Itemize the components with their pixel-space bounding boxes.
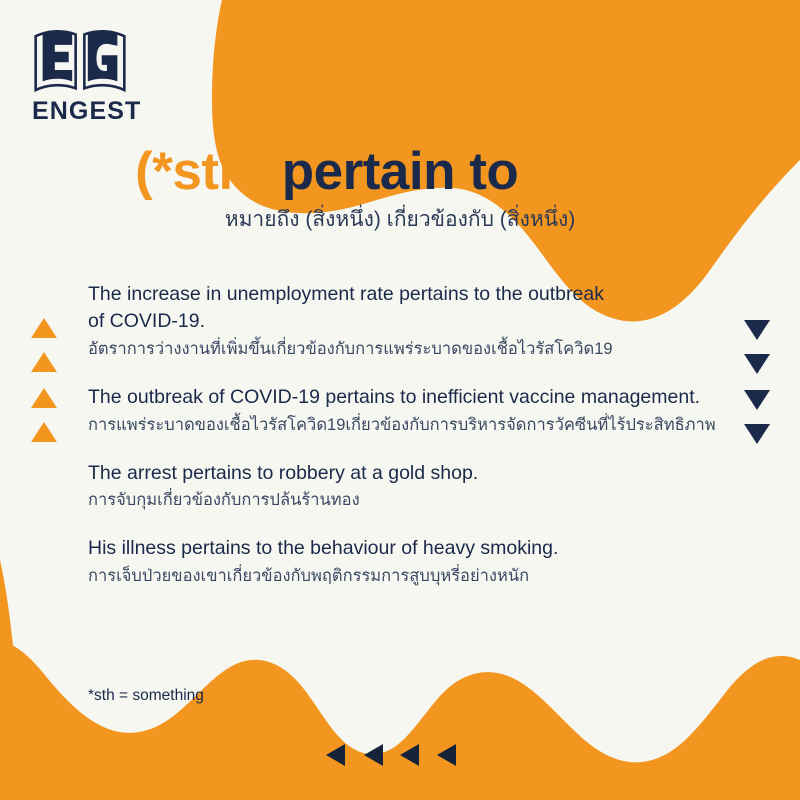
bottom-wave-shape [0, 640, 800, 800]
triangle-up-icon [31, 318, 57, 338]
examples-list: The increase in unemployment rate pertai… [88, 281, 728, 589]
example-english: His illness pertains to the behaviour of… [88, 535, 728, 562]
triangle-right-icon [396, 29, 415, 51]
triangle-left-icon [437, 744, 456, 766]
triangle-down-icon [744, 354, 770, 374]
example-english: The outbreak of COVID-19 pertains to ine… [88, 384, 728, 411]
subtitle-thai: หมายถึง (สิ่งหนึ่ง) เกี่ยวข้องกับ (สิ่งห… [0, 206, 800, 233]
triangle-left-icon [326, 744, 345, 766]
triangle-down-icon [744, 390, 770, 410]
example-item: His illness pertains to the behaviour of… [88, 535, 728, 589]
triangle-right-icon [433, 29, 452, 51]
triangle-right-icon [359, 29, 378, 51]
triangle-up-icon [31, 352, 57, 372]
example-item: The increase in unemployment rate pertai… [88, 281, 728, 362]
example-item: The outbreak of COVID-19 pertains to ine… [88, 384, 728, 438]
example-thai: อัตราการว่างงานที่เพิ่มขึ้นเกี่ยวข้องกับ… [88, 338, 728, 362]
triangle-down-icon [744, 320, 770, 340]
triangle-down-icon [744, 424, 770, 444]
example-thai: การเจ็บป่วยของเขาเกี่ยวข้องกับพฤติกรรมกา… [88, 565, 728, 589]
left-edge-wave-shape [0, 560, 40, 800]
footnote: *sth = something [88, 688, 204, 704]
poster-canvas: ENGEST (*sth) pertain to (*sth) หมายถึง … [0, 0, 800, 800]
logo: ENGEST [32, 24, 142, 124]
triangle-left-icon [400, 744, 419, 766]
open-book-eg-icon [32, 24, 128, 97]
title-part-2: pertain to [268, 142, 533, 201]
title-part-3: (*sth) [532, 142, 664, 201]
triangle-right-icon [322, 29, 341, 51]
example-english: The increase in unemployment rate pertai… [88, 281, 728, 335]
triangle-up-icon [31, 388, 57, 408]
title-area: (*sth) pertain to (*sth) หมายถึง (สิ่งหน… [0, 143, 800, 234]
triangle-up-icon [31, 422, 57, 442]
example-english: The arrest pertains to robbery at a gold… [88, 460, 728, 487]
triangle-left-icon [364, 744, 383, 766]
example-item: The arrest pertains to robbery at a gold… [88, 460, 728, 514]
logo-wordmark: ENGEST [32, 99, 142, 124]
example-thai: การจับกุมเกี่ยวข้องกับการปล้นร้านทอง [88, 489, 728, 513]
page-title: (*sth) pertain to (*sth) [0, 143, 800, 200]
example-thai: การแพร่ระบาดของเชื้อไวรัสโควิด19เกี่ยวข้… [88, 414, 728, 438]
title-part-1: (*sth) [135, 142, 267, 201]
